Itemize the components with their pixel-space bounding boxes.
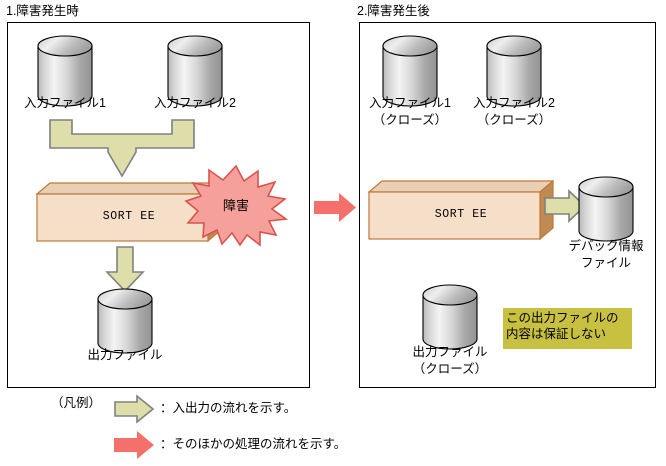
- arrow-inputs-merge-down: [48, 118, 196, 180]
- label-debug-info-file-line1: デバック情報: [551, 239, 661, 255]
- label-input-file-1-closed-line1: 入力ファイル1: [358, 96, 462, 112]
- arrow-panel-transition: [313, 192, 357, 224]
- warning-note-line2: 内容は保証しない: [506, 326, 629, 342]
- label-input-file-1: 入力ファイル1: [10, 96, 120, 111]
- label-input-file-2-closed-line2: （クローズ）: [462, 113, 566, 129]
- arrow-box-to-output-1: [104, 245, 146, 293]
- process-box-label-2: SORT EE: [368, 208, 554, 221]
- legend-item-1-text: ：そのほかの処理の流れを示す。: [160, 437, 346, 452]
- label-output-file-closed-line1: 出力ファイル: [395, 345, 505, 361]
- label-input-file-2-closed-line1: 入力ファイル2: [462, 96, 566, 112]
- cylinder-debug-info-file: [577, 176, 635, 242]
- process-box-sort-ee-2: SORT EE: [368, 180, 554, 242]
- fault-burst-icon: 障害: [184, 163, 288, 247]
- warning-note-box: この出力ファイルの 内容は保証しない: [503, 308, 632, 349]
- legend-item-0-text: ：入出力の流れを示す。: [160, 401, 296, 416]
- fault-burst-label: 障害: [184, 195, 288, 214]
- warning-note-line1: この出力ファイルの: [506, 310, 629, 326]
- label-input-file-1-closed-line2: （クローズ）: [358, 113, 462, 129]
- panel-2-title: 2.障害発生後: [357, 4, 430, 18]
- label-output-file-1: 出力ファイル: [70, 348, 180, 363]
- legend-arrow-io-icon: [113, 394, 155, 424]
- legend-heading: （凡例）: [51, 396, 101, 411]
- cylinder-output-file-closed: [421, 284, 479, 350]
- legend-arrow-other-icon: [113, 430, 155, 460]
- label-input-file-2: 入力ファイル2: [140, 96, 250, 111]
- diagram-canvas: 1.障害発生時 入力ファイル1 入力ファイル2 SORT EE: [0, 0, 666, 466]
- label-output-file-closed-line2: （クローズ）: [395, 362, 505, 378]
- label-debug-info-file-line2: ファイル: [551, 256, 661, 272]
- cylinder-output-file-1: [96, 288, 154, 354]
- panel-1-title: 1.障害発生時: [6, 4, 79, 18]
